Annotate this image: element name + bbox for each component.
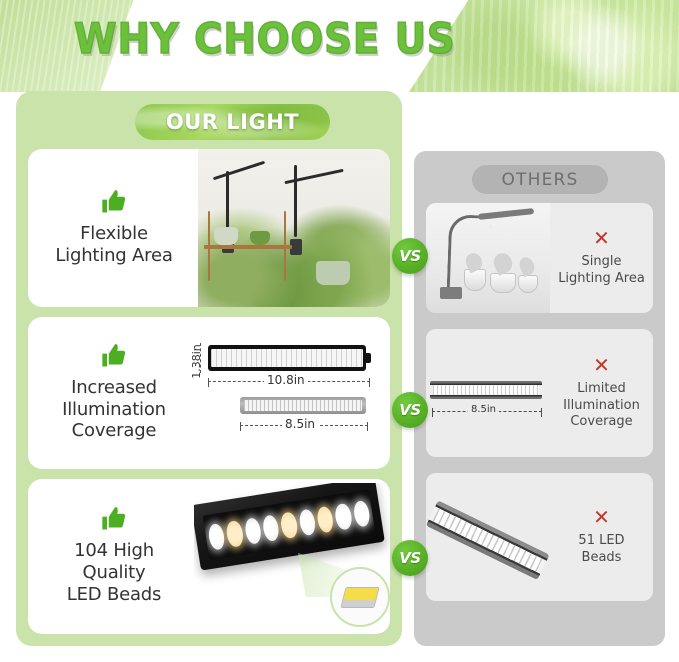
other-card-limited-illumination-coverage: 8.5in ✕ Limited Illumination Coverage xyxy=(426,329,653,457)
height-dimension-label: 1.38in xyxy=(190,344,203,379)
competitor-led-bar-lens xyxy=(433,385,539,395)
our-card-1-line-1: Flexible xyxy=(55,223,172,245)
vs-badge-row-1: VS xyxy=(392,238,428,274)
other-card-2-label: Limited Illumination Coverage xyxy=(563,381,640,432)
led-bead xyxy=(316,505,335,533)
other-card-3-line-2: Beads xyxy=(578,550,624,567)
led-bar-body xyxy=(194,483,385,571)
our-card-increased-illumination-coverage: Increased Illumination Coverage 1.38in 1… xyxy=(28,317,390,469)
plant-leaf xyxy=(491,250,516,276)
other-card-2-line-2: Illumination xyxy=(563,398,640,415)
led-bead-row xyxy=(203,489,376,560)
our-light-column: OUR LIGHT Flexible Lighting Area xyxy=(16,91,402,646)
cross-icon: ✕ xyxy=(593,507,610,527)
our-led-bar-lens xyxy=(211,349,363,367)
our-card-1-text: Flexible Lighting Area xyxy=(28,149,200,307)
competitor-led-bar-graphic xyxy=(240,397,366,414)
vs-badge-label: VS xyxy=(399,247,420,265)
other-card-led-beads: ✕ 51 LED Beads xyxy=(426,473,653,601)
our-card-1-label: Flexible Lighting Area xyxy=(55,223,172,267)
size-comparison-diagram: 1.38in 10.8in 8.5in xyxy=(186,317,386,469)
our-grow-light-room-photo xyxy=(198,149,390,307)
lamp-head xyxy=(478,208,534,220)
led-bead xyxy=(243,516,262,544)
led-bead xyxy=(207,522,226,550)
our-card-2-line-1: Increased xyxy=(62,377,166,399)
competitor-led-bar-lens xyxy=(244,400,362,411)
our-card-2-line-3: Coverage xyxy=(62,420,166,442)
led-bead xyxy=(279,511,298,539)
plant-pot xyxy=(464,269,486,291)
our-card-led-beads: 104 High Quality LED Beads xyxy=(28,479,390,634)
thumbs-up-icon xyxy=(99,342,129,370)
our-card-2-text: Increased Illumination Coverage xyxy=(28,317,200,469)
competitor-single-lamp-photo xyxy=(426,203,550,313)
our-card-flexible-lighting-area: Flexible Lighting Area xyxy=(28,149,390,307)
other-card-3-line-1: 51 LED xyxy=(578,533,624,550)
led-bead xyxy=(261,514,280,542)
lamp-clamp xyxy=(440,287,462,299)
others-badge-label: OTHERS xyxy=(501,170,578,190)
our-card-3-line-1: 104 High xyxy=(67,540,161,562)
led-beads-closeup-photo xyxy=(194,483,390,631)
led-bead xyxy=(352,499,371,527)
other-card-2-text: ✕ Limited Illumination Coverage xyxy=(550,329,653,457)
our-light-badge: OUR LIGHT xyxy=(135,104,330,140)
plant-pot xyxy=(518,275,538,293)
our-led-bar-graphic xyxy=(208,345,366,371)
our-card-2-label: Increased Illumination Coverage xyxy=(62,377,166,443)
our-card-3-line-2: Quality xyxy=(67,562,161,584)
vs-badge-label: VS xyxy=(399,549,420,567)
other-card-3-label: 51 LED Beads xyxy=(578,533,624,567)
led-chip-inset xyxy=(330,567,390,627)
other-card-1-text: ✕ Single Lighting Area xyxy=(550,203,653,313)
our-card-3-label: 104 High Quality LED Beads xyxy=(67,540,161,606)
vs-badge-row-3: VS xyxy=(392,540,428,576)
competitor-tilted-led-bar xyxy=(426,500,550,580)
other-card-1-label: Single Lighting Area xyxy=(558,254,645,288)
plant-pot xyxy=(490,273,516,293)
competitor-led-bar-graphic xyxy=(430,381,542,399)
page-title: WHY CHOOSE US xyxy=(74,14,456,63)
our-card-3-text: 104 High Quality LED Beads xyxy=(28,479,200,634)
thumbs-up-icon xyxy=(99,505,129,533)
vs-badge-label: VS xyxy=(399,401,420,419)
cross-icon: ✕ xyxy=(593,228,610,248)
led-bead xyxy=(298,508,317,536)
our-card-3-line-3: LED Beads xyxy=(67,584,161,606)
competitor-bar-diagram: 8.5in xyxy=(426,329,550,457)
led-bead xyxy=(334,502,353,530)
competitor-length-dimension-label: 8.5in xyxy=(468,404,499,415)
other-card-1-line-1: Single xyxy=(558,254,645,271)
other-card-2-line-1: Limited xyxy=(563,381,640,398)
competitor-led-bead-row xyxy=(433,509,543,572)
other-card-3-text: ✕ 51 LED Beads xyxy=(550,473,653,601)
others-badge: OTHERS xyxy=(472,165,608,194)
others-column: OTHERS ✕ Single Lighting Area xyxy=(414,151,665,646)
cross-icon: ✕ xyxy=(593,355,610,375)
our-length-dimension-label: 10.8in xyxy=(264,373,308,387)
led-bead xyxy=(225,519,244,547)
vs-badge-row-2: VS xyxy=(392,392,428,428)
plant-leaf xyxy=(517,255,537,277)
smd-led-chip-icon xyxy=(340,587,379,608)
our-light-badge-label: OUR LIGHT xyxy=(166,110,299,134)
competitor-led-bar-photo xyxy=(426,473,550,601)
competitor-length-dimension-label: 8.5in xyxy=(282,417,318,431)
page-header: WHY CHOOSE US xyxy=(0,0,679,92)
thumbs-up-icon xyxy=(99,188,129,216)
our-card-2-line-2: Illumination xyxy=(62,399,166,421)
other-card-single-lighting-area: ✕ Single Lighting Area xyxy=(426,203,653,313)
other-card-1-line-2: Lighting Area xyxy=(558,271,645,288)
other-card-2-line-3: Coverage xyxy=(563,414,640,431)
our-card-1-line-2: Lighting Area xyxy=(55,245,172,267)
